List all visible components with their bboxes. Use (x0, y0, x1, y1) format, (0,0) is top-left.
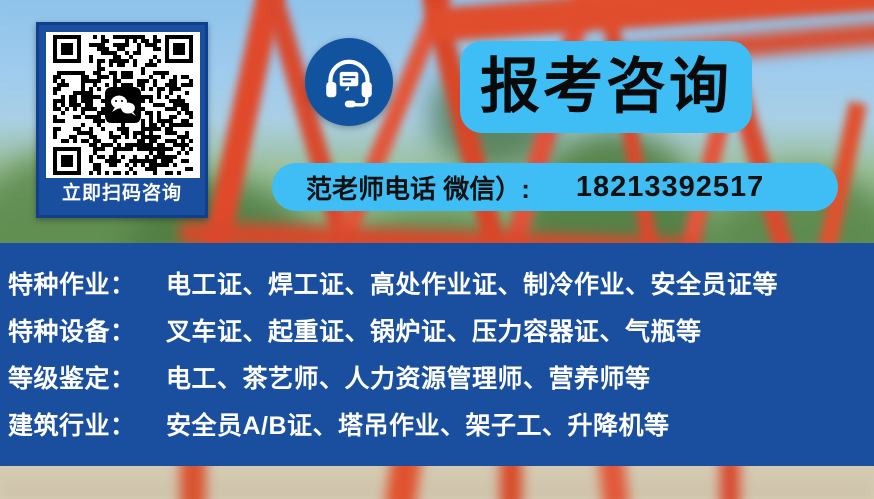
qr-card[interactable]: 立即扫码咨询 (36, 22, 208, 218)
info-row-label: 特种作业： (8, 265, 148, 301)
info-row-value: 电工证、焊工证、高处作业证、制冷作业、安全员证等 (166, 265, 778, 301)
promo-poster: 立即扫码咨询 报考咨询 范老师电话 微信）: 18213392517 特种作业：… (0, 0, 874, 499)
info-row-label: 特种设备： (8, 312, 148, 348)
info-row: 特种作业： 电工证、焊工证、高处作业证、制冷作业、安全员证等 (0, 259, 874, 306)
page-title: 报考咨询 (480, 57, 732, 117)
info-row-value: 叉车证、起重证、锅炉证、压力容器证、气瓶等 (166, 312, 702, 348)
title-badge: 报考咨询 (460, 41, 752, 133)
contact-phone-number[interactable]: 18213392517 (576, 171, 764, 204)
qr-code-image[interactable] (46, 32, 200, 178)
info-row: 等级鉴定： 电工、茶艺师、人力资源管理师、营养师等 (0, 353, 874, 400)
certification-list-panel: 特种作业： 电工证、焊工证、高处作业证、制冷作业、安全员证等 特种设备： 叉车证… (0, 243, 874, 466)
contact-label: 范老师电话 微信）: (306, 169, 530, 206)
headset-support-icon (322, 55, 376, 109)
info-row: 特种设备： 叉车证、起重证、锅炉证、压力容器证、气瓶等 (0, 306, 874, 353)
info-row-value: 安全员A/B证、塔吊作业、架子工、升降机等 (166, 406, 670, 442)
info-row: 建筑行业： 安全员A/B证、塔吊作业、架子工、升降机等 (0, 400, 874, 447)
qr-caption: 立即扫码咨询 (39, 177, 205, 211)
headset-support-badge (305, 38, 393, 126)
contact-bar[interactable]: 范老师电话 微信）: 18213392517 (272, 163, 838, 211)
bottom-photo-strip (0, 466, 874, 499)
qr-code-canvas (53, 35, 193, 175)
info-row-label: 等级鉴定： (8, 359, 148, 395)
info-row-value: 电工、茶艺师、人力资源管理师、营养师等 (166, 359, 651, 395)
info-row-label: 建筑行业： (8, 406, 148, 442)
